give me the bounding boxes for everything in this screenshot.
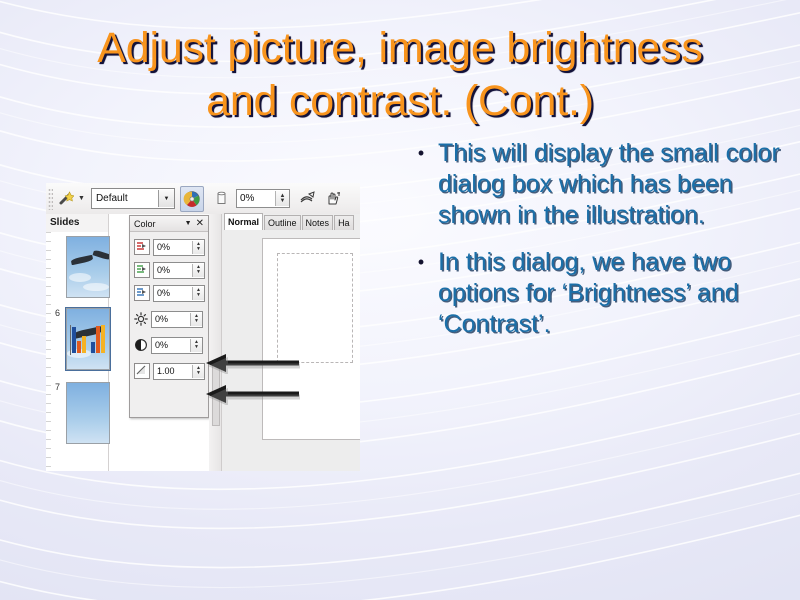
bullet-marker: • [404,138,438,169]
jet-icon [71,255,94,265]
impress-workspace: Slides 6 [46,214,360,471]
graphics-mode-combo[interactable]: Default ▼ [91,188,175,209]
bullet-item: • This will display the small color dial… [404,138,782,231]
slides-thumbnail-list[interactable]: 6 [46,232,108,471]
color-row-green: 0% ▲▼ [134,262,208,278]
slide-thumbnail-art [67,309,109,369]
transparency-spinner[interactable]: 0% ▲▼ [236,189,290,208]
bullet-text: This will display the small color dialog… [438,138,782,231]
slide-number-label: 7 [55,382,60,392]
color-dialog[interactable]: Color ▼ ✕ [129,215,209,418]
spinner-updown[interactable]: ▲▼ [190,339,202,352]
slide-thumbnail-art [67,383,109,443]
brightness-icon [134,312,148,326]
impress-screenshot-image: ▼ Default ▼ [46,183,360,471]
graphics-mode-value: Default [92,193,158,204]
gamma-icon [134,363,150,379]
slides-panel: Slides 6 [46,214,109,471]
spinner-updown[interactable]: ▲▼ [192,287,204,300]
tab-outline[interactable]: Outline [264,215,301,230]
spinner-updown[interactable]: ▲▼ [192,264,204,277]
bullet-item: • In this dialog, we have two options fo… [404,247,782,340]
chevron-down-icon[interactable]: ▼ [158,190,174,207]
filter-icon[interactable] [297,187,319,211]
tab-normal[interactable]: Normal [224,213,263,230]
spinner-updown[interactable]: ▲▼ [192,365,204,378]
contrast-value: 0% [152,340,190,350]
spinner-updown[interactable]: ▲▼ [192,241,204,254]
jet-icon [93,249,109,260]
brightness-field[interactable]: 0% ▲▼ [151,311,203,328]
tab-handout[interactable]: Ha [334,215,354,230]
green-channel-icon [134,262,150,278]
bullet-marker: • [404,247,438,278]
vertical-ruler [46,232,51,471]
slide-thumbnail[interactable] [66,382,110,444]
color-row-contrast: 0% ▲▼ [134,337,208,353]
slides-panel-title: Slides [46,214,108,231]
red-value: 0% [154,242,192,252]
spinner-updown[interactable]: ▲▼ [190,313,202,326]
editor-area: Normal Outline Notes Ha [222,214,360,471]
red-field[interactable]: 0% ▲▼ [153,239,205,256]
contrast-callout-arrow [205,383,300,405]
blue-channel-icon [134,285,150,301]
brightness-callout-arrow [205,352,300,374]
crop-hand-icon[interactable] [322,187,344,211]
chevron-down-icon[interactable]: ▼ [78,195,85,202]
picture-toolbar: ▼ Default ▼ [46,183,360,215]
blue-value: 0% [154,288,192,298]
contrast-field[interactable]: 0% ▲▼ [151,337,203,354]
green-field[interactable]: 0% ▲▼ [153,262,205,279]
blue-field[interactable]: 0% ▲▼ [153,285,205,302]
color-dialog-titlebar[interactable]: Color ▼ ✕ [130,216,208,232]
slide-edit-canvas[interactable] [262,238,360,440]
color-palette-icon[interactable] [180,186,204,212]
slide-thumbnail[interactable] [66,236,110,298]
gamma-value: 1.00 [154,366,192,376]
slide-number-label: 6 [55,308,60,318]
magic-wand-icon[interactable] [54,187,76,211]
slide-title: Adjust picture, image brightness and con… [20,22,780,128]
contrast-icon [134,338,148,352]
view-tabs[interactable]: Normal Outline Notes Ha [222,214,360,230]
slide-canvas: Adjust picture, image brightness and con… [0,0,800,600]
spinner-updown[interactable]: ▲▼ [275,191,289,206]
transparency-value: 0% [237,193,275,204]
content-placeholder[interactable] [277,253,353,363]
panel-scrollbar[interactable] [209,214,222,471]
toolbar-grip[interactable] [48,188,53,210]
color-row-gamma: 1.00 ▲▼ [134,363,208,379]
color-row-brightness: 0% ▲▼ [134,311,208,327]
brightness-value: 0% [152,314,190,324]
green-value: 0% [154,265,192,275]
bullet-text: In this dialog, we have two options for … [438,247,782,340]
red-channel-icon [134,239,150,255]
tab-notes[interactable]: Notes [302,215,334,230]
transparency-icon[interactable] [211,187,233,211]
close-icon[interactable]: ✕ [196,219,208,229]
color-row-blue: 0% ▲▼ [134,285,208,301]
slide-thumbnail-art [67,237,109,297]
gamma-field[interactable]: 1.00 ▲▼ [153,363,205,380]
color-dialog-title: Color [130,219,185,229]
slide-thumbnail[interactable] [66,308,110,370]
slide-body: • This will display the small color dial… [404,138,782,356]
color-row-red: 0% ▲▼ [134,239,208,255]
chevron-down-icon[interactable]: ▼ [185,220,196,227]
